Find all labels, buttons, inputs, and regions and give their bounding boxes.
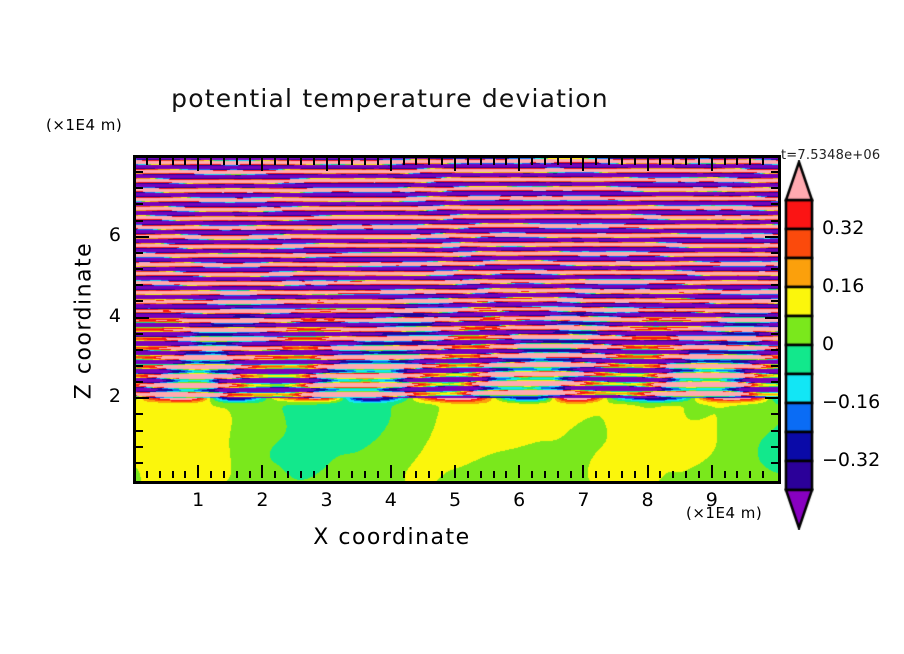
x-tick-mark xyxy=(172,471,174,478)
y-tick-mark xyxy=(136,365,143,367)
y-tick-mark xyxy=(136,300,143,302)
y-tick-mark xyxy=(136,284,143,286)
x-tick-mark xyxy=(351,158,353,165)
x-tick-mark xyxy=(313,471,315,478)
x-tick-mark xyxy=(724,471,726,478)
x-tick-mark xyxy=(634,471,636,478)
x-tick-mark xyxy=(184,158,186,165)
x-tick-mark xyxy=(390,465,392,478)
x-tick-mark xyxy=(698,158,700,165)
x-tick-mark xyxy=(467,158,469,165)
x-tick-mark xyxy=(685,471,687,478)
x-tick-mark xyxy=(197,465,199,478)
x-tick-mark xyxy=(595,471,597,478)
x-tick-mark xyxy=(724,158,726,165)
y-tick-mark xyxy=(136,203,143,205)
x-tick-mark xyxy=(749,471,751,478)
x-axis-title-text: X coordinate xyxy=(313,525,470,550)
figure-canvas: potential temperature deviation (×1E4 m)… xyxy=(0,0,904,654)
x-tick-mark xyxy=(608,158,610,165)
x-tick-mark xyxy=(210,471,212,478)
x-tick-mark xyxy=(505,158,507,165)
x-tick-mark xyxy=(184,471,186,478)
x-tick-mark xyxy=(711,465,713,478)
y-tick-mark xyxy=(771,220,778,222)
x-tick-mark xyxy=(377,158,379,165)
x-tick-mark xyxy=(621,471,623,478)
y-tick-mark xyxy=(771,284,778,286)
x-tick-mark xyxy=(582,465,584,478)
x-tick-mark xyxy=(518,465,520,478)
x-tick-mark xyxy=(544,158,546,165)
colorbar-tick-label: 0.16 xyxy=(822,275,864,297)
x-tick-mark xyxy=(326,158,328,171)
x-tick-mark xyxy=(428,158,430,165)
colorbar-tick-label: 0.32 xyxy=(822,217,864,239)
x-tick-mark xyxy=(274,471,276,478)
x-tick-mark xyxy=(762,158,764,165)
y-tick-mark xyxy=(771,187,778,189)
x-tick-mark xyxy=(762,471,764,478)
x-tick-mark xyxy=(685,158,687,165)
x-tick-mark xyxy=(210,158,212,165)
x-tick-mark xyxy=(428,471,430,478)
x-tick-mark xyxy=(454,158,456,171)
y-tick-mark xyxy=(136,252,143,254)
x-tick-mark xyxy=(159,158,161,165)
y-tick-mark xyxy=(136,333,143,335)
y-tick-mark xyxy=(771,203,778,205)
x-tick-mark xyxy=(595,158,597,165)
x-tick-mark xyxy=(236,471,238,478)
x-tick-label: 9 xyxy=(692,489,732,511)
x-tick-mark xyxy=(736,158,738,165)
x-tick-mark xyxy=(659,471,661,478)
y-tick-mark xyxy=(765,397,778,399)
x-tick-mark xyxy=(749,158,751,165)
x-tick-mark xyxy=(261,158,263,171)
x-tick-label: 1 xyxy=(178,489,218,511)
x-tick-mark xyxy=(441,158,443,165)
x-tick-label: 2 xyxy=(242,489,282,511)
x-tick-label: 4 xyxy=(371,489,411,511)
x-tick-mark xyxy=(146,158,148,165)
y-tick-mark xyxy=(771,171,778,173)
y-tick-mark xyxy=(771,349,778,351)
x-tick-mark xyxy=(672,471,674,478)
x-tick-mark xyxy=(672,158,674,165)
colorbar-tick-label: 0 xyxy=(822,333,834,355)
x-tick-mark xyxy=(287,158,289,165)
x-tick-mark xyxy=(505,471,507,478)
x-tick-mark xyxy=(659,158,661,165)
y-tick-mark xyxy=(136,381,143,383)
x-tick-mark xyxy=(146,471,148,478)
x-tick-mark xyxy=(557,158,559,165)
y-tick-mark xyxy=(136,317,149,319)
x-tick-mark xyxy=(441,471,443,478)
y-tick-mark xyxy=(771,381,778,383)
x-tick-mark xyxy=(287,471,289,478)
x-tick-mark xyxy=(647,158,649,171)
x-tick-mark xyxy=(197,158,199,171)
y-tick-mark xyxy=(771,252,778,254)
x-tick-mark xyxy=(364,471,366,478)
x-tick-mark xyxy=(570,158,572,165)
x-tick-mark xyxy=(159,471,161,478)
y-tick-mark xyxy=(771,300,778,302)
x-tick-mark xyxy=(249,471,251,478)
y-tick-mark xyxy=(771,430,778,432)
y-tick-mark xyxy=(771,333,778,335)
y-tick-label: 4 xyxy=(87,305,121,327)
y-tick-mark xyxy=(136,236,149,238)
x-tick-mark xyxy=(236,158,238,165)
y-tick-mark xyxy=(136,268,143,270)
x-tick-label: 6 xyxy=(499,489,539,511)
x-tick-label: 3 xyxy=(307,489,347,511)
y-tick-mark xyxy=(771,413,778,415)
x-tick-label: 8 xyxy=(628,489,668,511)
y-tick-label: 6 xyxy=(87,224,121,246)
y-tick-mark xyxy=(136,446,143,448)
y-tick-mark xyxy=(136,413,143,415)
x-tick-mark xyxy=(647,465,649,478)
colorbar-tick-label: −0.16 xyxy=(822,391,880,413)
x-tick-mark xyxy=(621,158,623,165)
x-tick-mark xyxy=(415,471,417,478)
x-tick-label: 5 xyxy=(435,489,475,511)
x-tick-mark xyxy=(338,471,340,478)
x-tick-mark xyxy=(467,471,469,478)
x-tick-mark xyxy=(313,158,315,165)
x-tick-mark xyxy=(300,471,302,478)
x-tick-mark xyxy=(364,158,366,165)
x-tick-mark xyxy=(403,158,405,165)
x-tick-mark xyxy=(493,158,495,165)
y-tick-mark xyxy=(136,430,143,432)
x-tick-mark xyxy=(249,158,251,165)
y-tick-mark xyxy=(136,187,143,189)
x-tick-mark xyxy=(480,471,482,478)
x-tick-mark xyxy=(172,158,174,165)
y-tick-mark xyxy=(765,317,778,319)
x-tick-mark xyxy=(557,471,559,478)
y-tick-label: 2 xyxy=(87,385,121,407)
x-tick-label: 7 xyxy=(563,489,603,511)
x-axis-title: X coordinate xyxy=(0,525,904,550)
x-tick-mark xyxy=(570,471,572,478)
x-tick-mark xyxy=(454,465,456,478)
y-tick-mark xyxy=(136,171,143,173)
y-tick-mark xyxy=(136,220,143,222)
x-tick-mark xyxy=(711,158,713,171)
colorbar-tick-label: −0.32 xyxy=(822,449,880,471)
x-tick-mark xyxy=(634,158,636,165)
y-tick-mark xyxy=(765,236,778,238)
y-tick-mark xyxy=(771,365,778,367)
x-tick-mark xyxy=(698,471,700,478)
colorbar-gradient xyxy=(784,160,814,530)
x-tick-mark xyxy=(377,471,379,478)
x-tick-mark xyxy=(403,471,405,478)
x-tick-mark xyxy=(493,471,495,478)
x-tick-mark xyxy=(531,158,533,165)
y-tick-mark xyxy=(136,397,149,399)
page-title: potential temperature deviation xyxy=(0,84,780,113)
x-tick-mark xyxy=(338,158,340,165)
z-axis-unit-label: (×1E4 m) xyxy=(46,116,122,134)
x-tick-mark xyxy=(582,158,584,171)
x-tick-mark xyxy=(736,471,738,478)
contour-field xyxy=(136,158,778,481)
x-tick-mark xyxy=(531,471,533,478)
y-tick-mark xyxy=(136,349,143,351)
x-tick-mark xyxy=(300,158,302,165)
x-tick-mark xyxy=(415,158,417,165)
x-tick-mark xyxy=(480,158,482,165)
x-tick-mark xyxy=(326,465,328,478)
y-tick-mark xyxy=(136,462,143,464)
x-tick-mark xyxy=(544,471,546,478)
y-tick-mark xyxy=(771,268,778,270)
y-tick-mark xyxy=(771,446,778,448)
x-tick-mark xyxy=(390,158,392,171)
x-tick-mark xyxy=(518,158,520,171)
plot-area xyxy=(133,155,781,484)
x-tick-mark xyxy=(608,471,610,478)
x-tick-mark xyxy=(261,465,263,478)
x-tick-mark xyxy=(223,158,225,165)
y-tick-mark xyxy=(771,462,778,464)
x-tick-mark xyxy=(274,158,276,165)
colorbar xyxy=(784,160,814,530)
x-tick-mark xyxy=(223,471,225,478)
x-tick-mark xyxy=(351,471,353,478)
